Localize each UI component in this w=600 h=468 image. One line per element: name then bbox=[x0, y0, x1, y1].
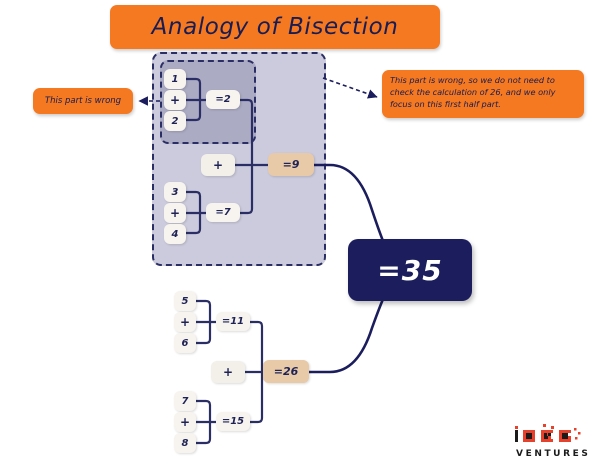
operator-node-lower-half[interactable]: + bbox=[211, 361, 245, 383]
operand-node-6[interactable]: 6 bbox=[174, 333, 196, 353]
sum-node-group-3-4[interactable]: =7 bbox=[206, 203, 240, 222]
sum-node-group-1-2[interactable]: =2 bbox=[206, 90, 240, 109]
operator-node-group-7-8[interactable]: + bbox=[174, 412, 196, 432]
sum-node-group-5-6[interactable]: =11 bbox=[216, 312, 250, 331]
sum-node-group-7-8[interactable]: =15 bbox=[216, 412, 250, 431]
operand-node-5[interactable]: 5 bbox=[174, 291, 196, 311]
operand-node-3[interactable]: 3 bbox=[164, 182, 186, 202]
operand-node-7[interactable]: 7 bbox=[174, 391, 196, 411]
operator-node-group-5-6[interactable]: + bbox=[174, 312, 196, 332]
operand-node-2[interactable]: 2 bbox=[164, 111, 186, 131]
operator-node-group-1-2[interactable]: + bbox=[164, 90, 186, 110]
operand-node-4[interactable]: 4 bbox=[164, 224, 186, 244]
diagram-canvas: Analogy of Bisection 1 + 2 =2 bbox=[0, 0, 600, 468]
root-result-node-35[interactable]: =35 bbox=[348, 239, 472, 301]
result-node-9[interactable]: =9 bbox=[268, 153, 314, 176]
operand-node-8[interactable]: 8 bbox=[174, 433, 196, 453]
operand-node-1[interactable]: 1 bbox=[164, 69, 186, 89]
result-node-26[interactable]: =26 bbox=[263, 360, 309, 383]
connector-lines bbox=[0, 0, 600, 468]
operator-node-group-3-4[interactable]: + bbox=[164, 203, 186, 223]
operator-node-upper-half[interactable]: + bbox=[201, 154, 235, 176]
